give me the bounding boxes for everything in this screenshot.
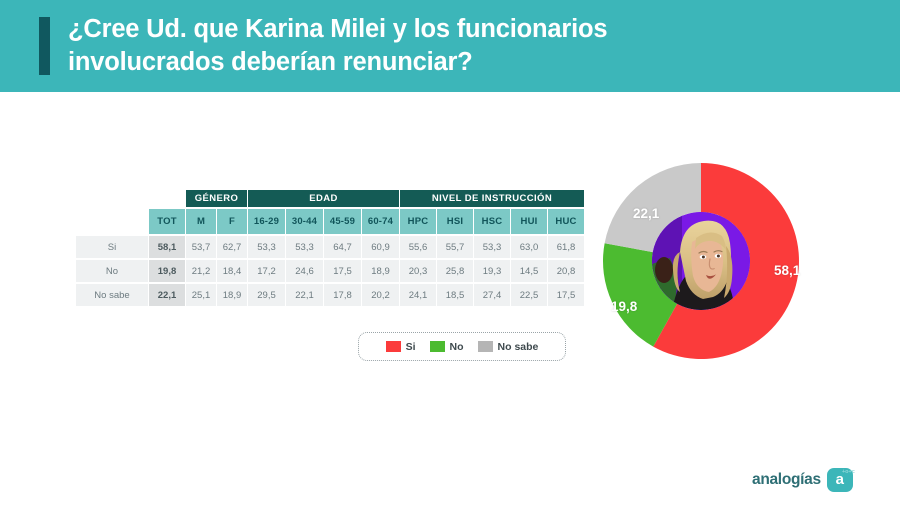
legend-item-si: Si <box>386 341 416 353</box>
logo-mark-superscript: +o+c <box>842 469 855 475</box>
group-header-tot <box>149 190 185 207</box>
cell-nosabe-hsc: 27,4 <box>474 284 510 306</box>
cell-no-60-74: 18,9 <box>362 260 399 282</box>
table-row: Si 58,1 53,7 62,7 53,3 53,3 64,7 60,9 55… <box>76 236 584 258</box>
logo-text: analogías <box>752 471 821 489</box>
legend-swatch-no-icon <box>430 341 445 352</box>
cell-no-45-59: 17,5 <box>324 260 361 282</box>
legend-label-no: No <box>450 341 464 353</box>
legend-swatch-no-sabe-icon <box>478 341 493 352</box>
cell-no-tot: 19,8 <box>149 260 185 282</box>
cell-no-hpc: 20,3 <box>400 260 436 282</box>
center-portrait-image <box>652 212 750 310</box>
cell-no-f: 18,4 <box>217 260 247 282</box>
table-row: No sabe 22,1 25,1 18,9 29,5 22,1 17,8 20… <box>76 284 584 306</box>
cell-nosabe-16-29: 29,5 <box>248 284 285 306</box>
cell-no-hsc: 19,3 <box>474 260 510 282</box>
cell-nosabe-45-59: 17,8 <box>324 284 361 306</box>
row-label-no: No <box>76 260 148 282</box>
cell-si-m: 53,7 <box>186 236 216 258</box>
group-header-genero: GÉNERO <box>186 190 247 207</box>
donut-label-no: 19,8 <box>611 299 637 314</box>
cell-no-30-44: 24,6 <box>286 260 323 282</box>
cell-si-tot: 58,1 <box>149 236 185 258</box>
column-header-16-29: 16-29 <box>248 209 285 234</box>
portrait-svg <box>652 212 750 310</box>
logo-mark-icon: a +o+c <box>827 468 853 492</box>
column-header-tot: TOT <box>149 209 185 234</box>
chart-legend: Si No No sabe <box>358 332 566 361</box>
cell-nosabe-hsi: 18,5 <box>437 284 473 306</box>
column-header-m: M <box>186 209 216 234</box>
column-header-huc: HUC <box>548 209 584 234</box>
cell-nosabe-tot: 22,1 <box>149 284 185 306</box>
cell-no-m: 21,2 <box>186 260 216 282</box>
cell-nosabe-huc: 17,5 <box>548 284 584 306</box>
cell-si-f: 62,7 <box>217 236 247 258</box>
header-banner: ¿Cree Ud. que Karina Milei y los funcion… <box>0 0 900 92</box>
cell-si-45-59: 64,7 <box>324 236 361 258</box>
column-header-spacer <box>76 209 148 234</box>
column-header-45-59: 45-59 <box>324 209 361 234</box>
legend-swatch-si-icon <box>386 341 401 352</box>
cell-nosabe-60-74: 20,2 <box>362 284 399 306</box>
banner-accent-bar <box>39 17 50 75</box>
donut-label-no-sabe: 22,1 <box>633 206 659 221</box>
column-header-hsc: HSC <box>474 209 510 234</box>
cell-si-hpc: 55,6 <box>400 236 436 258</box>
cell-no-hui: 14,5 <box>511 260 547 282</box>
table-group-header-row: GÉNERO EDAD NIVEL DE INSTRUCCIÓN <box>76 190 584 207</box>
page-title: ¿Cree Ud. que Karina Milei y los funcion… <box>68 13 768 78</box>
cell-nosabe-f: 18,9 <box>217 284 247 306</box>
table-column-header-row: TOT M F 16-29 30-44 45-59 60-74 HPC HSI … <box>76 209 584 234</box>
group-header-nivel: NIVEL DE INSTRUCCIÓN <box>400 190 584 207</box>
legend-item-no-sabe: No sabe <box>478 341 539 353</box>
brand-logo: analogías a +o+c <box>752 468 853 492</box>
column-header-hui: HUI <box>511 209 547 234</box>
legend-label-no-sabe: No sabe <box>498 341 539 353</box>
cell-no-16-29: 17,2 <box>248 260 285 282</box>
column-header-hsi: HSI <box>437 209 473 234</box>
donut-label-si: 58,1 <box>774 263 800 278</box>
cell-si-hsi: 55,7 <box>437 236 473 258</box>
crosstab-table: GÉNERO EDAD NIVEL DE INSTRUCCIÓN TOT M F… <box>75 188 585 308</box>
cell-si-hsc: 53,3 <box>474 236 510 258</box>
cell-si-60-74: 60,9 <box>362 236 399 258</box>
table-row: No 19,8 21,2 18,4 17,2 24,6 17,5 18,9 20… <box>76 260 584 282</box>
cell-si-huc: 61,8 <box>548 236 584 258</box>
cell-si-16-29: 53,3 <box>248 236 285 258</box>
cell-si-hui: 63,0 <box>511 236 547 258</box>
group-header-spacer <box>76 190 148 207</box>
donut-chart: 58,1 19,8 22,1 <box>603 163 799 359</box>
column-header-60-74: 60-74 <box>362 209 399 234</box>
column-header-f: F <box>217 209 247 234</box>
legend-label-si: Si <box>406 341 416 353</box>
cell-no-huc: 20,8 <box>548 260 584 282</box>
cell-nosabe-hui: 22,5 <box>511 284 547 306</box>
column-header-30-44: 30-44 <box>286 209 323 234</box>
cell-nosabe-m: 25,1 <box>186 284 216 306</box>
legend-item-no: No <box>430 341 464 353</box>
row-label-si: Si <box>76 236 148 258</box>
group-header-edad: EDAD <box>248 190 399 207</box>
cell-nosabe-hpc: 24,1 <box>400 284 436 306</box>
column-header-hpc: HPC <box>400 209 436 234</box>
row-label-no-sabe: No sabe <box>76 284 148 306</box>
cell-no-hsi: 25,8 <box>437 260 473 282</box>
cell-si-30-44: 53,3 <box>286 236 323 258</box>
cell-nosabe-30-44: 22,1 <box>286 284 323 306</box>
